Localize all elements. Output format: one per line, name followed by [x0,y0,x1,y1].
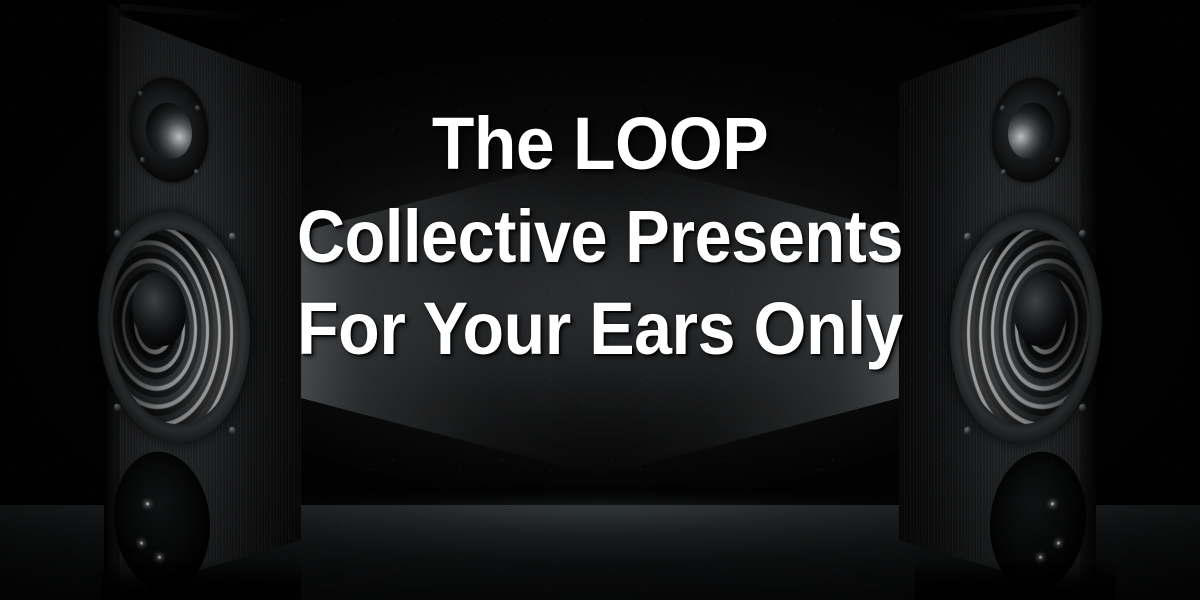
title-line-3: For Your Ears Only [48,293,1152,366]
specular-highlight [140,541,143,544]
screw-icon [229,426,236,435]
right-speaker-contact-shadow [906,572,1116,600]
specular-highlight [158,556,161,559]
specular-highlight [1051,502,1054,505]
specular-highlight [146,502,149,505]
screw-icon [114,403,121,412]
title-line-2: Collective Presents [60,201,1140,274]
specular-highlight [1039,556,1042,559]
left-speaker-contact-shadow [84,572,294,600]
screw-icon [1057,90,1062,97]
event-banner-image: The LOOP Collective Presents For Your Ea… [0,0,1200,600]
event-title: The LOOP Collective Presents For Your Ea… [0,108,1200,366]
title-line-1: The LOOP [36,108,1164,181]
screw-icon [138,90,143,97]
specular-highlight [1057,541,1060,544]
